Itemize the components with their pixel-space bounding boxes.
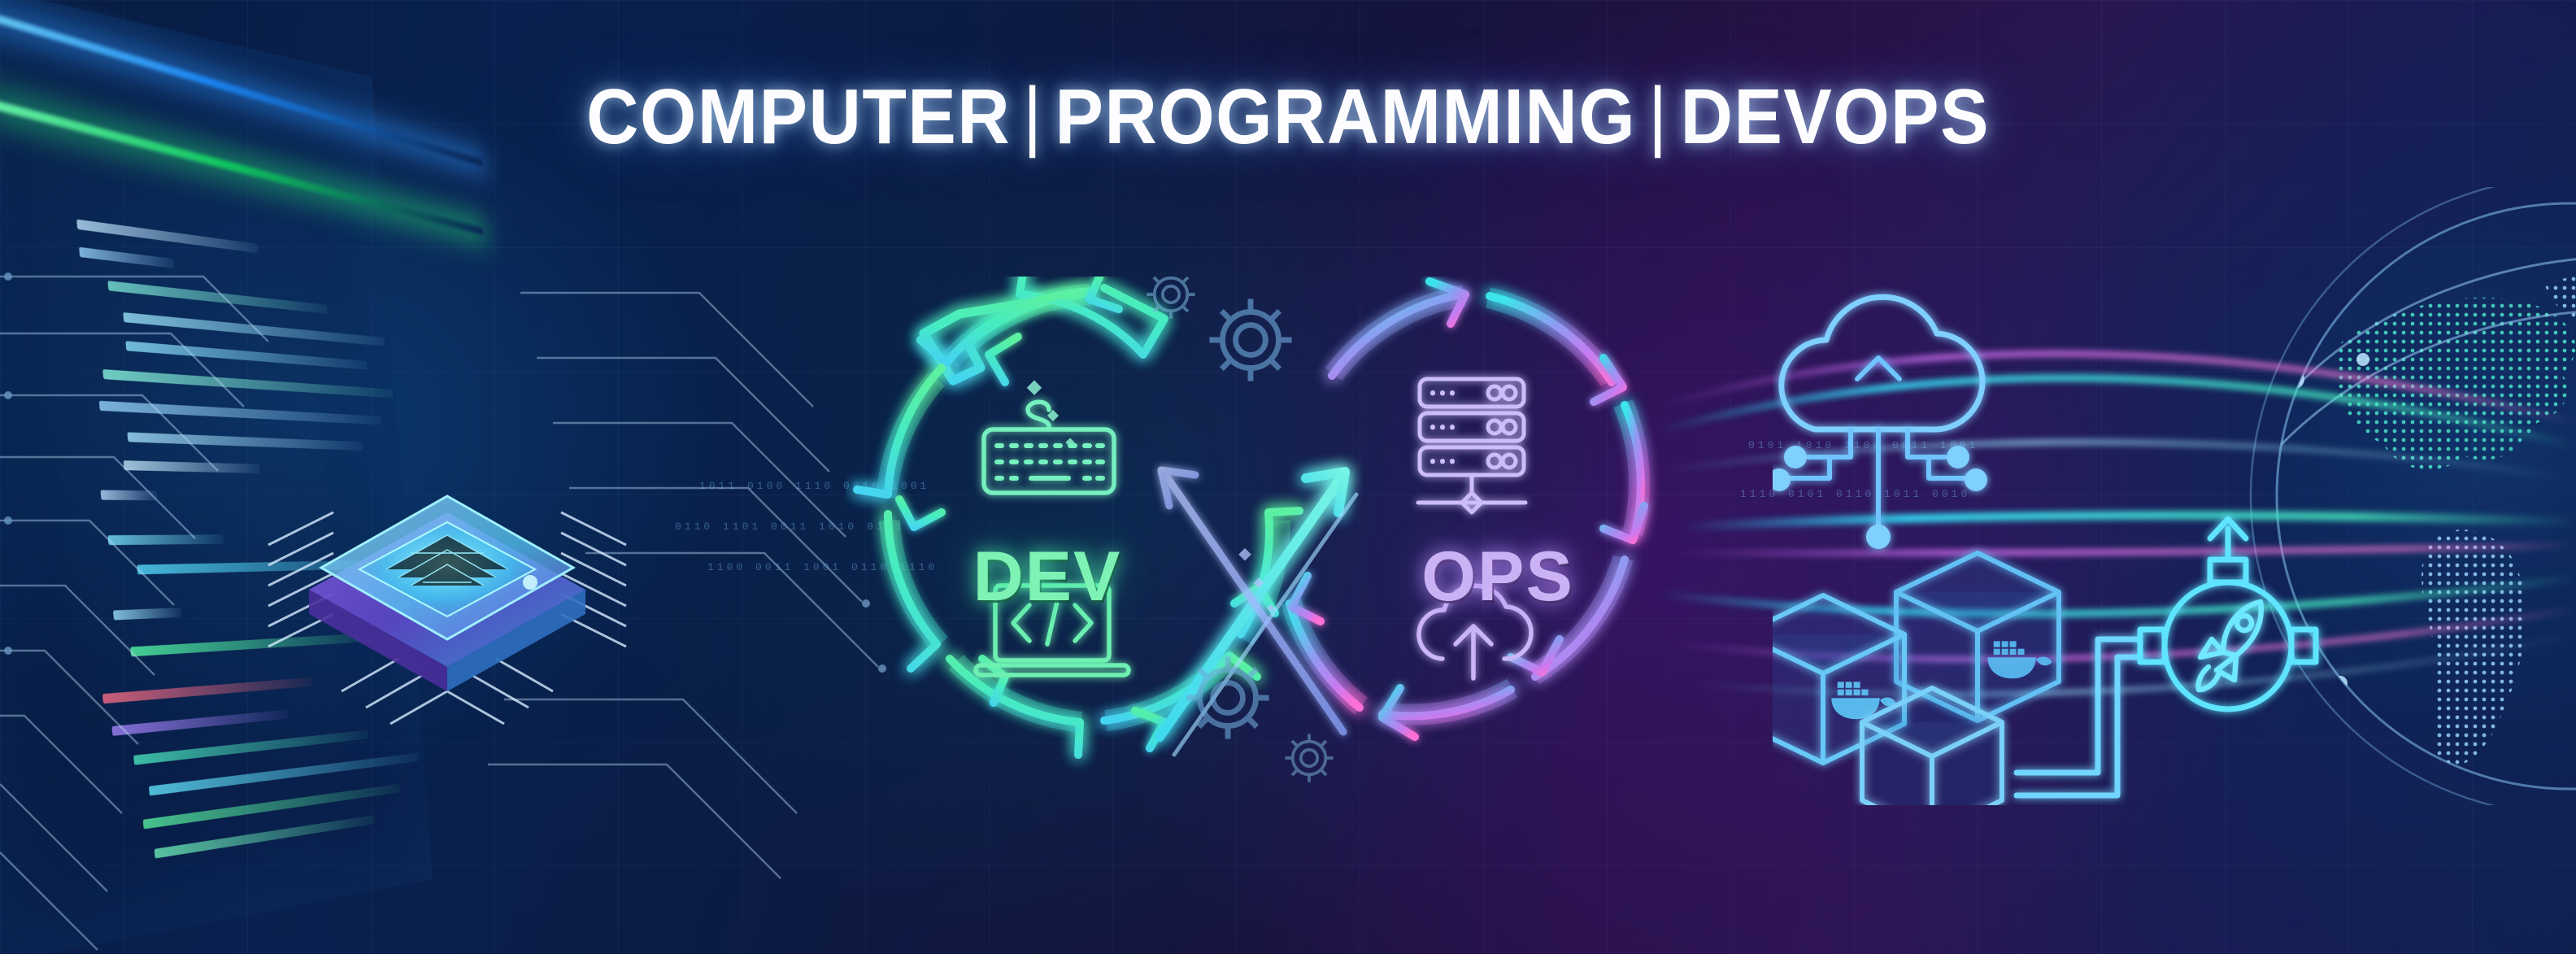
title-part-devops: DEVOPS — [1680, 73, 1989, 160]
sparkle-diamonds — [1027, 381, 1075, 447]
cloud-circuit-branches — [1789, 358, 1971, 537]
gear-icon — [1186, 656, 1268, 738]
rocket-icon — [2199, 602, 2261, 690]
dev-label: DEV — [942, 537, 1153, 617]
gear-icon — [1209, 298, 1291, 381]
server-rack-icon — [1418, 379, 1525, 512]
ops-label: OPS — [1392, 537, 1603, 617]
rocket-node — [2140, 519, 2316, 709]
page-title: COMPUTER|PROGRAMMING|DEVOPS — [90, 78, 2486, 156]
cloud-deployment-scene — [1773, 285, 2391, 805]
devops-banner: 1011 0100 1110 0010 1001 0110 1101 0011 … — [0, 0, 2576, 954]
cpu-chip — [244, 423, 651, 765]
gear-icon — [1285, 734, 1333, 782]
title-separator-1: | — [1011, 72, 1055, 159]
title-separator-2: | — [1636, 72, 1680, 159]
title-part-programming: PROGRAMMING — [1055, 73, 1636, 160]
title-part-computer: COMPUTER — [586, 73, 1011, 160]
